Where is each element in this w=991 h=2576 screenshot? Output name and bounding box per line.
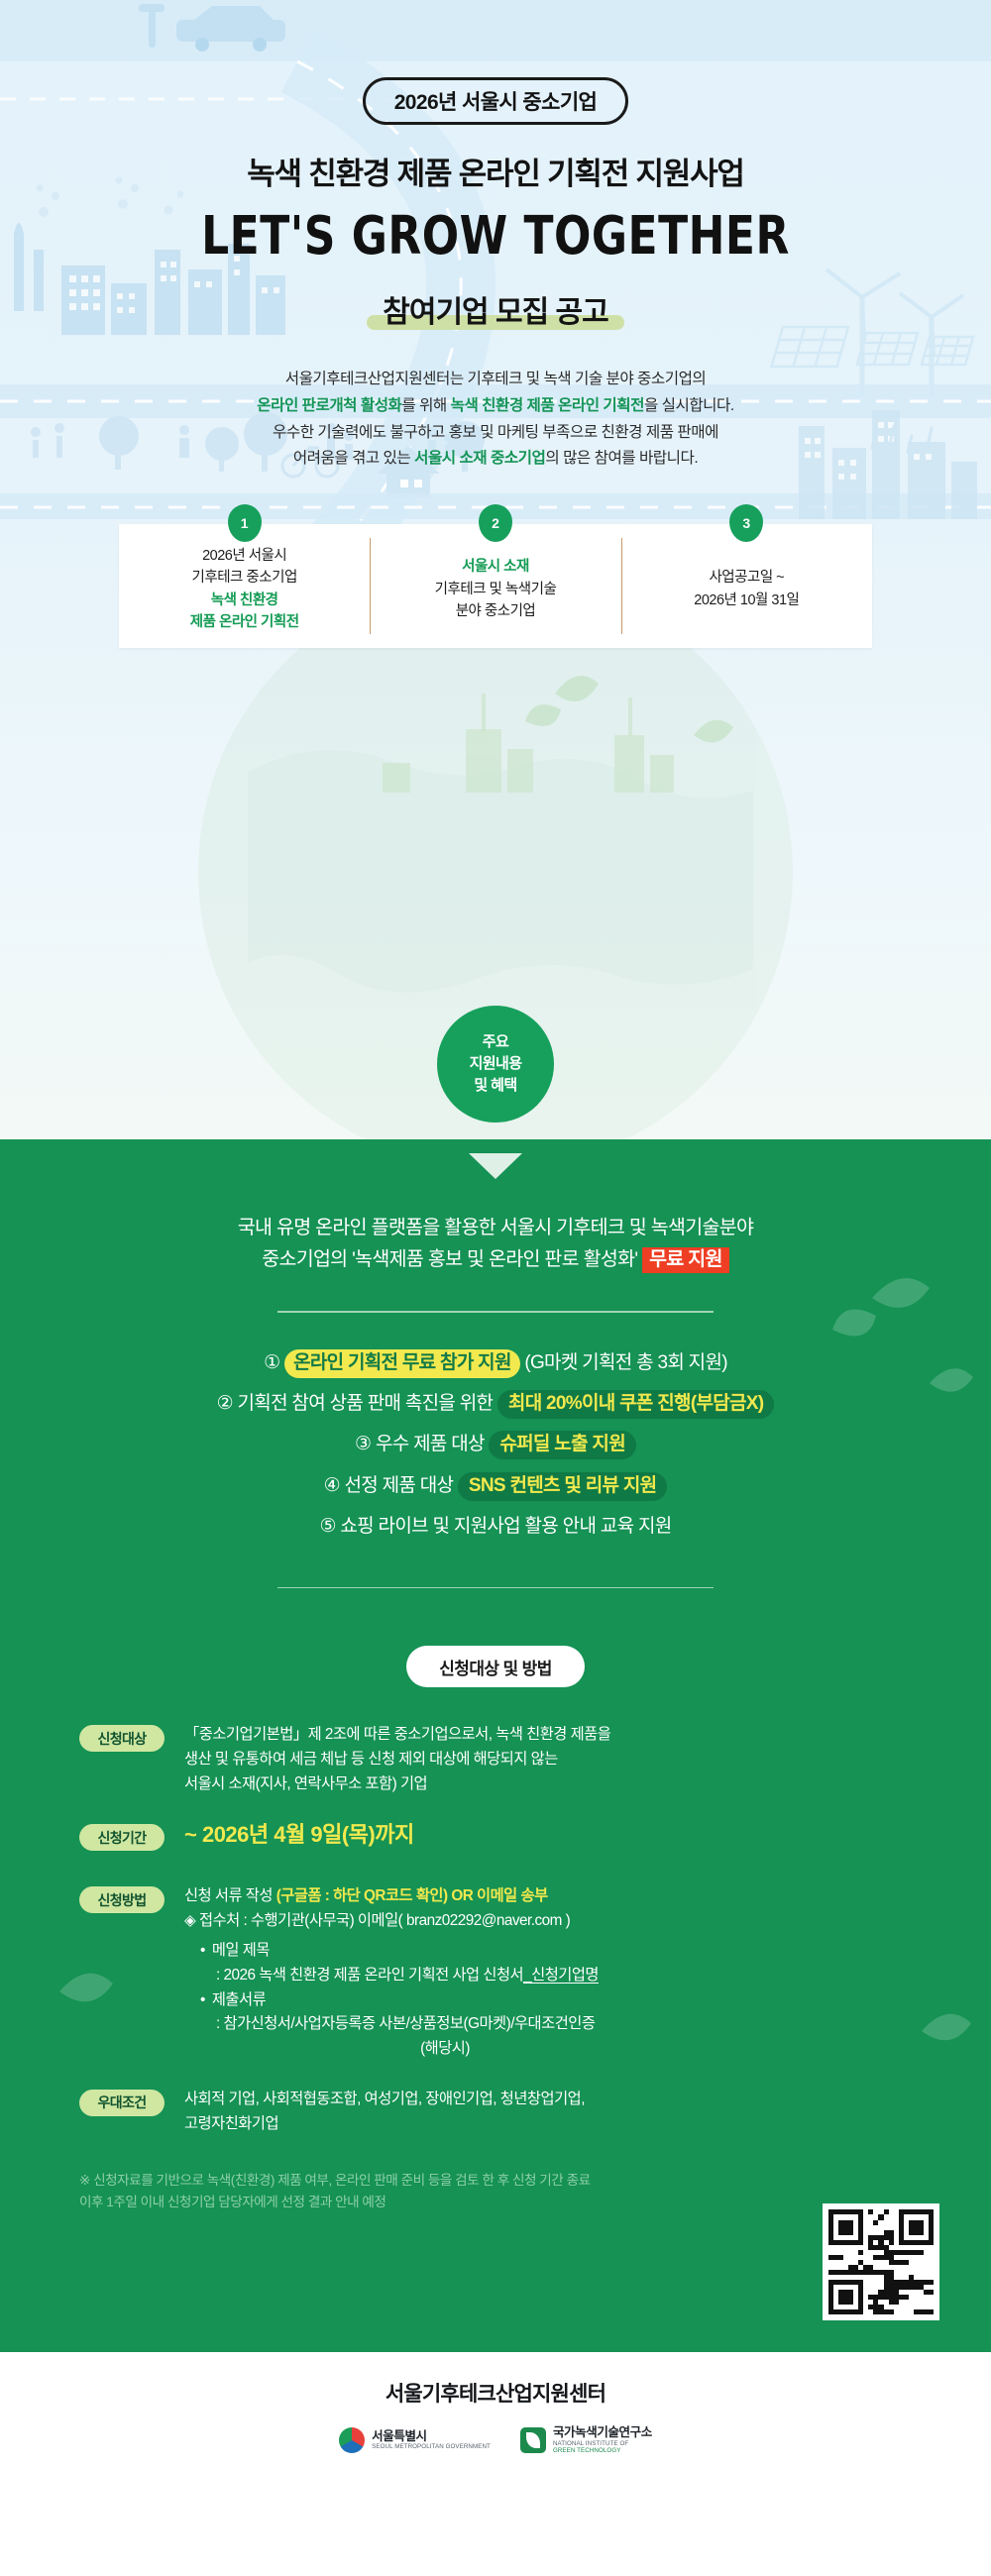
target-line-2: 생산 및 유통하여 세금 체납 등 신청 제외 대상에 해당되지 않는 (184, 1748, 610, 1772)
method-head-plain: 신청 서류 작성 (184, 1887, 276, 1904)
oval-badge-line-3: 및 혜택 (474, 1075, 516, 1097)
intro-line-3: 우수한 기술력에도 불구하고 홍보 및 마케팅 부족으로 친환경 제품 판매에 (0, 420, 991, 447)
steps-card-group: 1 2026년 서울시 기후테크 중소기업 녹색 친환경 제품 온라인 기획전 … (119, 524, 872, 648)
benefits-oval-badge: 주요 지원내용 및 혜택 (437, 1006, 554, 1123)
application-target-text: 「중소기업기본법」제 2조에 따른 중소기업으로서, 녹색 친환경 제품을 생산… (184, 1723, 610, 1796)
method-bullet-1-sub-plain: : 2026 녹색 친환경 제품 온라인 기획전 사업 신청서 (216, 1967, 523, 1984)
step-body-1: 2026년 서울시 기후테크 중소기업 녹색 친환경 제품 온라인 기획전 (190, 545, 299, 634)
footer-section: 서울기후테크산업지원센터 서울특별시 SEOUL METROPOLITAN GO… (0, 2352, 991, 2501)
intro-line-2: 온라인 판로개척 활성화를 위해 녹색 친환경 제품 온라인 기획전을 실시합니… (0, 393, 991, 420)
header-section: 2026년 서울시 중소기업 녹색 친환경 제품 온라인 기획전 지원사업 LE… (0, 0, 991, 1139)
method-bullet-1-sub-underline: _신청기업명 (523, 1967, 599, 1984)
seoul-logo-texts: 서울특별시 SEOUL METROPOLITAN GOVERNMENT (372, 2429, 491, 2451)
step-card-2: 2 서울시 소재 기후테크 및 녹색기술 분야 중소기업 (370, 524, 620, 648)
benefit-item-2: ② 기획전 참여 상품 판매 촉진을 위한 최대 20%이내 쿠폰 진행(부담금… (0, 1383, 991, 1424)
logo-seoul-city: 서울특별시 SEOUL METROPOLITAN GOVERNMENT (339, 2427, 491, 2453)
footnote: ※ 신청자료를 기반으로 녹색(친환경) 제품 여부, 온라인 판매 준비 등을… (50, 2170, 941, 2213)
step-body-3: 사업공고일 ~ 2026년 10월 31일 (694, 567, 799, 611)
benefit-2-highlight: 최대 20%이내 쿠폰 진행(부담금X) (497, 1390, 774, 1419)
poster-root: 2026년 서울시 중소기업 녹색 친환경 제품 온라인 기획전 지원사업 LE… (0, 0, 991, 2576)
divider-top (277, 1311, 714, 1313)
application-row-method: 신청방법 신청 서류 작성 (구글폼 : 하단 QR코드 확인) OR 이메일 … (79, 1884, 941, 2061)
lead-line-2-text: 중소기업의 '녹색제품 홍보 및 온라인 판로 활성화' (262, 1248, 642, 1270)
application-row-target: 신청대상 「중소기업기본법」제 2조에 따른 중소기업으로서, 녹색 친환경 제… (79, 1723, 941, 1796)
benefit-1-number: ① (264, 1352, 279, 1373)
seoul-logo-icon (339, 2427, 365, 2453)
intro-line-4: 어려움을 겪고 있는 서울시 소재 중소기업의 많은 참여를 바랍니다. (0, 446, 991, 473)
intro-line-1: 서울기후테크산업지원센터는 기후테크 및 녹색 기술 분야 중소기업의 (0, 367, 991, 393)
lead-line-1: 국내 유명 온라인 플랫폼을 활용한 서울시 기후테크 및 녹색기술분야 (0, 1213, 991, 1244)
benefit-4-highlight: SNS 컨텐츠 및 리뷰 지원 (458, 1472, 668, 1501)
page-title-korean: 녹색 친환경 제품 온라인 기획전 지원사업 (0, 149, 991, 193)
benefit-3-highlight: 슈퍼딜 노출 지원 (489, 1431, 636, 1459)
intro-line-2-end: 을 실시합니다. (644, 397, 734, 414)
step-3-line-1: 사업공고일 ~ (694, 567, 799, 589)
intro-line-2-mid: 를 위해 (401, 397, 450, 414)
benefit-5-before: 쇼핑 라이브 및 지원사업 활용 안내 교육 지원 (336, 1516, 672, 1537)
method-bullet-1-sub: : 2026 녹색 친환경 제품 온라인 기획전 사업 신청서_신청기업명 (216, 1964, 599, 1988)
application-rows: 신청대상 「중소기업기본법」제 2조에 따른 중소기업으로서, 녹색 친환경 제… (50, 1723, 941, 2136)
seoul-logo-sub: SEOUL METROPOLITAN GOVERNMENT (372, 2443, 491, 2450)
intro-highlight-seoul-sme: 서울시 소재 중소기업 (414, 450, 545, 467)
tag-application-target: 신청대상 (79, 1725, 165, 1752)
benefit-3-before: 우수 제품 대상 (371, 1434, 489, 1454)
method-head-yellow: (구글폼 : 하단 QR코드 확인) OR 이메일 송부 (276, 1887, 548, 1904)
target-line-3: 서울시 소재(지사, 연락사무소 포함) 기업 (184, 1772, 610, 1797)
subtitle-wrap: 참여기업 모집 공고 (0, 285, 991, 331)
step-1-line-2: 기후테크 중소기업 (190, 567, 299, 589)
footer-logo-group: 서울특별시 SEOUL METROPOLITAN GOVERNMENT 국가녹색… (0, 2425, 991, 2454)
tag-application-period: 신청기간 (79, 1824, 165, 1851)
green-inner-content: 국내 유명 온라인 플랫폼을 활용한 서울시 기후테크 및 녹색기술분야 중소기… (0, 1153, 991, 2332)
step-2-line-2: 기후테크 및 녹색기술 (435, 579, 557, 600)
step-number-1: 1 (228, 504, 262, 542)
step-2-line-1: 서울시 소재 (435, 556, 557, 578)
method-contact-line: ◈ 접수처 : 수행기관(사무국) 이메일( branz02292@naver.… (184, 1909, 599, 1934)
lead-statement: 국내 유명 온라인 플랫폼을 활용한 서울시 기후테크 및 녹색기술분야 중소기… (0, 1213, 991, 1275)
footer-org-title: 서울기후테크산업지원센터 (0, 2378, 991, 2408)
step-1-line-1: 2026년 서울시 (190, 545, 299, 567)
apply-section-pill: 신청대상 및 방법 (406, 1646, 585, 1687)
application-period-text: ~ 2026년 4월 9일(목)까지 (184, 1821, 414, 1850)
application-row-preference: 우대조건 사회적 기업, 사회적협동조합, 여성기업, 장애인기업, 청년창업기… (79, 2088, 941, 2137)
preference-line-2: 고령자친화기업 (184, 2112, 585, 2137)
divider-bottom (277, 1587, 714, 1589)
tag-preference-conditions: 우대조건 (79, 2090, 165, 2116)
benefit-2-before: 기획전 참여 상품 판매 촉진을 위한 (233, 1393, 497, 1414)
target-line-1: 「중소기업기본법」제 2조에 따른 중소기업으로서, 녹색 친환경 제품을 (184, 1723, 610, 1748)
seoul-logo-name: 서울특별시 (372, 2429, 491, 2443)
footnote-line-2: 이후 1주일 이내 신청기업 담당자에게 선정 결과 안내 예정 (79, 2192, 941, 2213)
logo-nigt: 국가녹색기술연구소 NATIONAL INSTITUTE OF GREEN TE… (520, 2425, 652, 2454)
method-bullet-2-sub: : 참가신청서/사업자등록증 사본/상품정보(G마켓)/우대조건인증 (216, 2012, 599, 2037)
preference-conditions-text: 사회적 기업, 사회적협동조합, 여성기업, 장애인기업, 청년창업기업, 고령… (184, 2088, 585, 2137)
apply-section-pill-label: 신청대상 및 방법 (439, 1655, 552, 1679)
benefit-item-4: ④ 선정 제품 대상 SNS 컨텐츠 및 리뷰 지원 (0, 1465, 991, 1506)
nigt-logo-name: 국가녹색기술연구소 (553, 2425, 652, 2439)
year-badge-label: 2026년 서울시 중소기업 (394, 86, 598, 116)
step-card-3: 3 사업공고일 ~ 2026년 10월 31일 (621, 524, 872, 648)
lead-free-support-badge: 무료 지원 (642, 1247, 729, 1273)
step-number-2: 2 (479, 504, 512, 542)
benefit-1-after: (G마켓 기획전 총 3회 지원) (520, 1352, 727, 1373)
benefit-4-number: ④ (324, 1475, 340, 1496)
method-bullets: 메일 제목 : 2026 녹색 친환경 제품 온라인 기획전 사업 신청서_신청… (184, 1939, 599, 2062)
benefit-1-highlight: 온라인 기획전 무료 참가 지원 (284, 1349, 520, 1378)
nigt-logo-texts: 국가녹색기술연구소 NATIONAL INSTITUTE OF GREEN TE… (553, 2425, 652, 2454)
oval-badge-line-2: 지원내용 (470, 1053, 522, 1075)
page-title-english: LET'S GROW TOGETHER (0, 205, 991, 267)
preference-line-1: 사회적 기업, 사회적협동조합, 여성기업, 장애인기업, 청년창업기업, (184, 2088, 585, 2112)
benefit-item-1: ① 온라인 기획전 무료 참가 지원 (G마켓 기획전 총 3회 지원) (0, 1342, 991, 1383)
step-1-line-4: 제품 온라인 기획전 (190, 611, 299, 633)
intro-highlight-expo: 녹색 친환경 제품 온라인 기획전 (451, 397, 644, 414)
benefits-list: ① 온라인 기획전 무료 참가 지원 (G마켓 기획전 총 3회 지원) ② 기… (0, 1342, 991, 1548)
intro-paragraph: 서울기후테크산업지원센터는 기후테크 및 녹색 기술 분야 중소기업의 온라인 … (0, 367, 991, 473)
application-method-text: 신청 서류 작성 (구글폼 : 하단 QR코드 확인) OR 이메일 송부 ◈ … (184, 1884, 599, 2061)
chevron-down-icon (469, 1153, 522, 1179)
qr-code-matrix (828, 2209, 934, 2314)
tag-application-method: 신청방법 (79, 1886, 165, 1913)
step-card-1: 1 2026년 서울시 기후테크 중소기업 녹색 친환경 제품 온라인 기획전 (119, 524, 370, 648)
step-number-3: 3 (729, 504, 763, 542)
benefit-item-3: ③ 우수 제품 대상 슈퍼딜 노출 지원 (0, 1424, 991, 1464)
benefit-2-number: ② (217, 1393, 233, 1414)
lead-line-2: 중소기업의 '녹색제품 홍보 및 온라인 판로 활성화' 무료 지원 (0, 1244, 991, 1276)
page-subtitle: 참여기업 모집 공고 (367, 285, 623, 331)
intro-line-4-start: 어려움을 겪고 있는 (293, 450, 414, 467)
intro-line-1-text: 서울기후테크산업지원센터는 기후테크 및 녹색 기술 분야 중소기업의 (285, 371, 707, 387)
application-row-period: 신청기간 ~ 2026년 4월 9일(목)까지 (79, 1822, 941, 1851)
method-bullet-2-note: (해당시) (184, 2037, 599, 2062)
intro-highlight-sales: 온라인 판로개척 활성화 (257, 397, 401, 414)
nigt-logo-sub-2: GREEN TECHNOLOGY (553, 2447, 652, 2454)
nigt-logo-sub-1: NATIONAL INSTITUTE OF (553, 2440, 652, 2447)
intro-line-3-text: 우수한 기술력에도 불구하고 홍보 및 마케팅 부족으로 친환경 제품 판매에 (273, 424, 718, 441)
benefit-item-5: ⑤ 쇼핑 라이브 및 지원사업 활용 안내 교육 지원 (0, 1506, 991, 1547)
footnote-line-1: ※ 신청자료를 기반으로 녹색(친환경) 제품 여부, 온라인 판매 준비 등을… (79, 2170, 941, 2192)
benefit-3-number: ③ (355, 1434, 371, 1454)
benefit-5-number: ⑤ (319, 1516, 335, 1537)
method-bullet-2: 제출서류 (200, 1988, 599, 2013)
headline-group: 녹색 친환경 제품 온라인 기획전 지원사업 LET'S GROW TOGETH… (0, 149, 991, 331)
method-head-line: 신청 서류 작성 (구글폼 : 하단 QR코드 확인) OR 이메일 송부 (184, 1884, 599, 1909)
qr-code[interactable] (823, 2203, 939, 2320)
step-3-line-2: 2026년 10월 31일 (694, 590, 799, 611)
step-2-line-3: 분야 중소기업 (435, 600, 557, 622)
method-bullet-1: 메일 제목 (200, 1939, 599, 1964)
intro-line-4-end: 의 많은 참여를 바랍니다. (545, 450, 698, 467)
step-body-2: 서울시 소재 기후테크 및 녹색기술 분야 중소기업 (435, 556, 557, 622)
oval-badge-line-1: 주요 (483, 1031, 508, 1053)
nigt-leaf-icon (520, 2427, 546, 2453)
step-1-line-3: 녹색 친환경 (190, 590, 299, 611)
benefit-4-before: 선정 제품 대상 (340, 1475, 458, 1496)
main-green-section: 국내 유명 온라인 플랫폼을 활용한 서울시 기후테크 및 녹색기술분야 중소기… (0, 1139, 991, 2352)
year-badge: 2026년 서울시 중소기업 (363, 77, 628, 125)
